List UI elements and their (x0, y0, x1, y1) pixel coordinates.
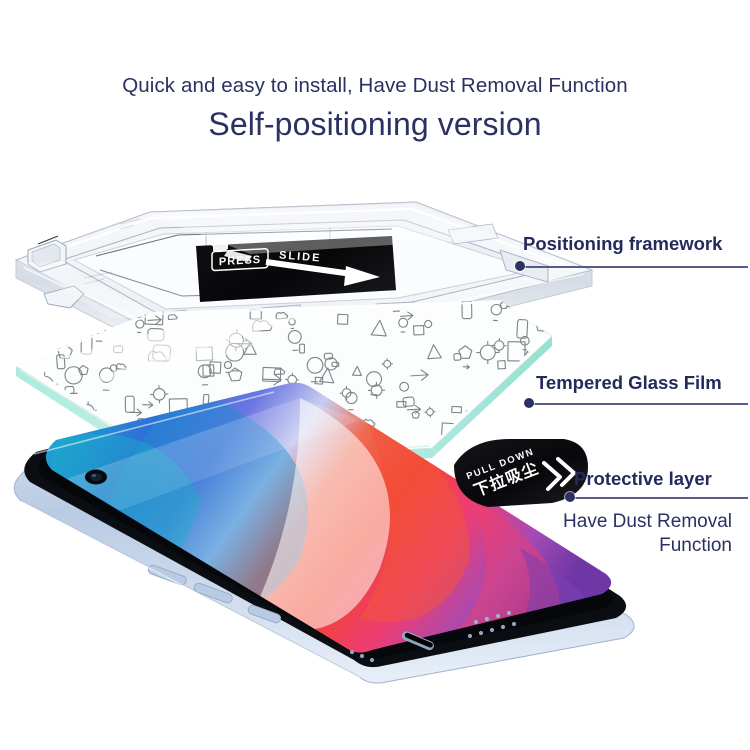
callout-sublabel-protective-layer: Have Dust Removal Function (412, 510, 732, 559)
callout-rule-tempered-glass-film (530, 403, 748, 405)
callout-label-protective-layer: Protective layer (574, 468, 712, 490)
callout-rule-protective-layer (570, 497, 748, 499)
callout-dot-protective-layer (565, 492, 575, 502)
callout-rule-positioning-framework (520, 266, 748, 268)
page-title: Self-positioning version (0, 106, 750, 143)
callout-dot-positioning-framework (515, 261, 525, 271)
subheading-text: Quick and easy to install, Have Dust Rem… (0, 74, 750, 98)
front-camera-icon (85, 470, 107, 485)
callout-label-positioning-framework: Positioning framework (523, 233, 722, 255)
callout-dot-tempered-glass-film (524, 398, 534, 408)
callout-label-tempered-glass-film: Tempered Glass Film (536, 372, 722, 394)
infographic-canvas: Quick and easy to install, Have Dust Rem… (0, 0, 750, 750)
